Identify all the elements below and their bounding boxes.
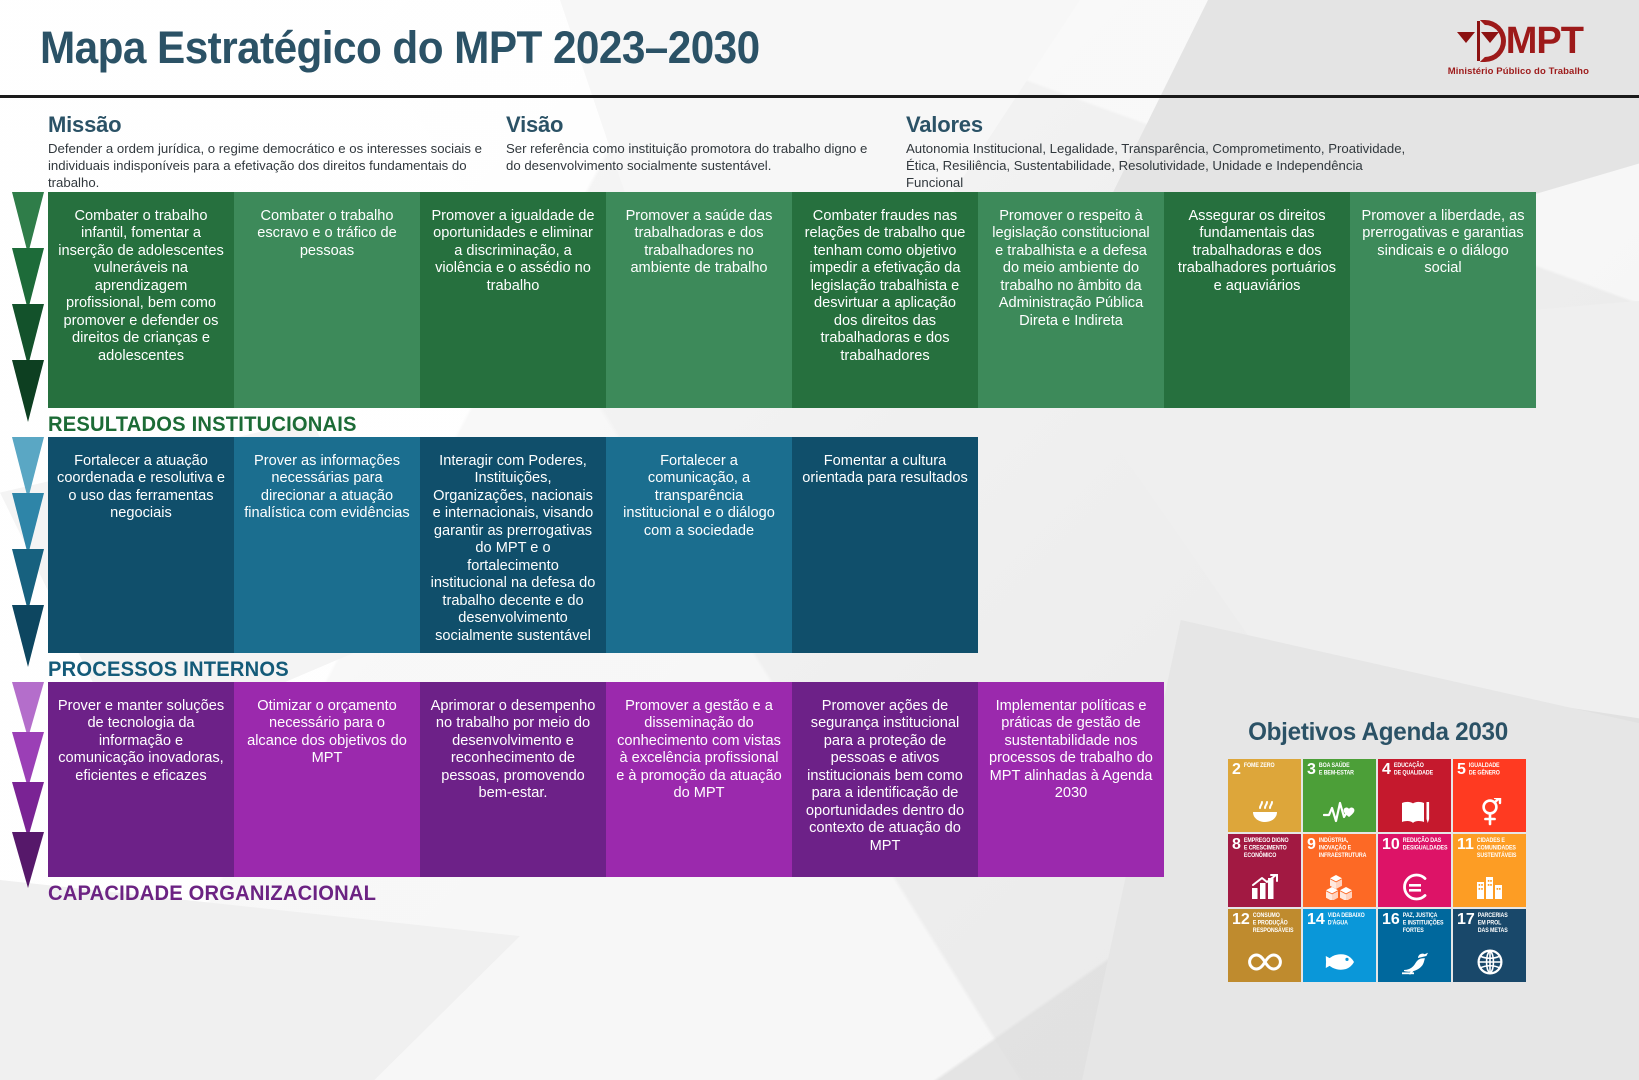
objective-card[interactable]: Aprimorar o desempenho no trabalho por m…	[420, 682, 606, 877]
sdg-goal-number: 9	[1307, 838, 1316, 853]
sdg-goal-head: 14VIDA DEBAIXOD'ÁGUA	[1307, 913, 1372, 928]
sdg-goal-label: VIDA DEBAIXOD'ÁGUA	[1328, 913, 1365, 928]
objective-card[interactable]: Fortalecer a atuação coordenada e resolu…	[48, 437, 234, 653]
strategic-map-page: Mapa Estratégico do MPT 2023–2030 MPT Mi…	[0, 0, 1639, 1080]
mission-block: Missão Defender a ordem jurídica, o regi…	[48, 112, 506, 192]
objective-card-text: Otimizar o orçamento necessário para o a…	[247, 698, 407, 767]
mission-text: Defender a ordem jurídica, o regime demo…	[48, 141, 482, 192]
sdg-goal-number: 2	[1232, 763, 1241, 778]
sdg-goal-head: 9INDÚSTRIA,INOVAÇÃO EINFRAESTRUTURA	[1307, 838, 1372, 856]
objective-card-text: Fomentar a cultura orientada para result…	[802, 453, 968, 487]
sdg-goal-label: IGUALDADEDE GÊNERO	[1469, 763, 1500, 778]
sdg-goal-tile-16[interactable]: 16PAZ, JUSTIÇAE INSTITUIÇÕESFORTES	[1378, 909, 1451, 982]
sdg-goal-tile-17[interactable]: 17PARCERIASEM PROLDAS METAS	[1453, 909, 1526, 982]
equal-circle-icon	[1378, 870, 1451, 904]
page-header: Mapa Estratégico do MPT 2023–2030 MPT Mi…	[0, 0, 1639, 98]
objective-row: Combater o trabalho infantil, fomentar a…	[48, 192, 1639, 408]
objective-card[interactable]: Promover a liberdade, as prerrogativas e…	[1350, 192, 1536, 408]
objective-row: Fortalecer a atuação coordenada e resolu…	[48, 437, 1639, 653]
mpt-logo-text: MPT	[1506, 22, 1583, 60]
sdg-goal-number: 11	[1457, 838, 1474, 853]
objective-card[interactable]: Combater fraudes nas relações de trabalh…	[792, 192, 978, 408]
sdg-panel: Objetivos Agenda 2030 2FOME ZERO3BOA SAÚ…	[1228, 718, 1528, 982]
sdg-goal-number: 14	[1307, 913, 1325, 928]
objective-card[interactable]: Assegurar os direitos fundamentais das t…	[1164, 192, 1350, 408]
sdg-goal-tile-5[interactable]: 5IGUALDADEDE GÊNERO	[1453, 759, 1526, 832]
sdg-goal-head: 4EDUCAÇÃODE QUALIDADE	[1382, 763, 1447, 778]
sdg-goal-number: 4	[1382, 763, 1391, 778]
objective-card[interactable]: Promover a igualdade de oportunidades e …	[420, 192, 606, 408]
sdg-goal-head: 17PARCERIASEM PROLDAS METAS	[1457, 913, 1522, 931]
vision-block: Visão Ser referência como instituição pr…	[506, 112, 906, 192]
objective-card[interactable]: Promover ações de segurança instituciona…	[792, 682, 978, 877]
objective-card-text: Promover o respeito à legislação constit…	[992, 208, 1149, 329]
sdg-goal-label: FOME ZERO	[1244, 763, 1275, 770]
vision-heading: Visão	[506, 112, 882, 138]
chevron-segment	[12, 782, 44, 838]
sdg-goal-label: PARCERIASEM PROLDAS METAS	[1478, 913, 1508, 935]
values-heading: Valores	[906, 112, 1422, 138]
objective-card-text: Implementar políticas e práticas de gest…	[989, 698, 1153, 802]
objective-card[interactable]: Implementar políticas e práticas de gest…	[978, 682, 1164, 877]
sdg-goal-tile-8[interactable]: 8EMPREGO DIGNOE CRESCIMENTOECONÔMICO	[1228, 834, 1301, 907]
chevron-segment	[12, 832, 44, 888]
sdg-goal-label: BOA SAÚDEE BEM-ESTAR	[1319, 763, 1354, 778]
chevron-segment	[12, 360, 44, 422]
page-title: Mapa Estratégico do MPT 2023–2030	[40, 22, 760, 74]
sdg-goal-label: EDUCAÇÃODE QUALIDADE	[1394, 763, 1433, 778]
sdg-goal-number: 10	[1382, 838, 1400, 853]
objective-card-text: Assegurar os direitos fundamentais das t…	[1178, 208, 1336, 294]
sdg-goal-label: INDÚSTRIA,INOVAÇÃO EINFRAESTRUTURA	[1319, 838, 1366, 860]
gender-icon	[1453, 795, 1526, 829]
objective-card[interactable]: Combater o trabalho infantil, fomentar a…	[48, 192, 234, 408]
objective-card[interactable]: Prover e manter soluções de tecnologia d…	[48, 682, 234, 877]
objective-card-text: Prover e manter soluções de tecnologia d…	[58, 698, 224, 784]
mpt-emblem-icon	[1454, 19, 1506, 63]
chevron-arrow-green	[12, 192, 44, 416]
bowl-icon	[1228, 795, 1301, 829]
chevron-segment	[12, 248, 44, 310]
sdg-goal-head: 8EMPREGO DIGNOE CRESCIMENTOECONÔMICO	[1232, 838, 1297, 856]
mpt-logo-subtitle: Ministério Público do Trabalho	[1448, 66, 1589, 77]
sdg-goal-head: 12CONSUMOE PRODUÇÃORESPONSÁVEIS	[1232, 913, 1297, 931]
partnership-icon	[1453, 945, 1526, 979]
cubes-icon	[1303, 870, 1376, 904]
objective-card-text: Combater o trabalho infantil, fomentar a…	[58, 208, 224, 364]
heartbeat-icon	[1303, 795, 1376, 829]
sdg-goal-head: 16PAZ, JUSTIÇAE INSTITUIÇÕESFORTES	[1382, 913, 1447, 931]
sdg-goal-number: 12	[1232, 913, 1250, 928]
sdg-goal-tile-11[interactable]: 11CIDADES ECOMUNIDADESSUSTENTÁVEIS	[1453, 834, 1526, 907]
sdg-goal-label: EMPREGO DIGNOE CRESCIMENTOECONÔMICO	[1244, 838, 1289, 860]
chevron-segment	[12, 192, 44, 254]
chevron-segment	[12, 304, 44, 366]
chevron-arrow-purple	[12, 682, 44, 882]
sdg-goal-number: 5	[1457, 763, 1466, 778]
objective-card-text: Promover a saúde das trabalhadoras e dos…	[626, 208, 773, 277]
sdg-goal-tile-4[interactable]: 4EDUCAÇÃODE QUALIDADE	[1378, 759, 1451, 832]
sdg-goal-label: CIDADES ECOMUNIDADESSUSTENTÁVEIS	[1477, 838, 1516, 860]
objective-card-text: Promover a liberdade, as prerrogativas e…	[1361, 208, 1524, 277]
perspective-band-blue: Fortalecer a atuação coordenada e resolu…	[0, 437, 1639, 682]
chevron-segment	[12, 437, 44, 499]
dove-icon	[1378, 945, 1451, 979]
objective-card-text: Combater o trabalho escravo e o tráfico …	[257, 208, 397, 259]
sdg-panel-title: Objetivos Agenda 2030	[1233, 718, 1524, 747]
objective-card[interactable]: Fomentar a cultura orientada para result…	[792, 437, 978, 653]
objective-card-text: Promover a gestão e a disseminação do co…	[616, 698, 782, 802]
sdg-goal-label: PAZ, JUSTIÇAE INSTITUIÇÕESFORTES	[1403, 913, 1444, 935]
sdg-goal-number: 3	[1307, 763, 1316, 778]
sdg-goal-tile-2[interactable]: 2FOME ZERO	[1228, 759, 1301, 832]
mission-vision-values: Missão Defender a ordem jurídica, o regi…	[0, 98, 1639, 192]
perspective-band-green: Combater o trabalho infantil, fomentar a…	[0, 192, 1639, 437]
chevron-segment	[12, 549, 44, 611]
sdg-goal-head: 5IGUALDADEDE GÊNERO	[1457, 763, 1522, 778]
sdg-goal-head: 3BOA SAÚDEE BEM-ESTAR	[1307, 763, 1372, 778]
sdg-goal-number: 8	[1232, 838, 1241, 853]
perspective-label-green: RESULTADOS INSTITUCIONAIS	[48, 408, 1575, 437]
vision-text: Ser referência como instituição promotor…	[506, 141, 882, 175]
objective-card-text: Aprimorar o desempenho no trabalho por m…	[431, 698, 596, 802]
objective-card-text: Combater fraudes nas relações de trabalh…	[805, 208, 966, 364]
sdg-goal-number: 16	[1382, 913, 1400, 928]
chevron-segment	[12, 682, 44, 738]
objective-card[interactable]: Otimizar o orçamento necessário para o a…	[234, 682, 420, 877]
sdg-goal-tile-10[interactable]: 10REDUÇÃO DASDESIGUALDADES	[1378, 834, 1451, 907]
objective-card-text: Promover ações de segurança instituciona…	[806, 698, 964, 854]
infinity-icon	[1228, 945, 1301, 979]
sdg-goal-tile-14[interactable]: 14VIDA DEBAIXOD'ÁGUA	[1303, 909, 1376, 982]
objective-card[interactable]: Promover o respeito à legislação constit…	[978, 192, 1164, 408]
objective-card[interactable]: Promover a gestão e a disseminação do co…	[606, 682, 792, 877]
sdg-goal-tile-3[interactable]: 3BOA SAÚDEE BEM-ESTAR	[1303, 759, 1376, 832]
objective-card[interactable]: Fortalecer a comunicação, a transparênci…	[606, 437, 792, 653]
sdg-grid: 2FOME ZERO3BOA SAÚDEE BEM-ESTAR4EDUCAÇÃO…	[1228, 759, 1528, 982]
mpt-logo: MPT Ministério Público do Trabalho	[1448, 19, 1589, 77]
sdg-goal-label: CONSUMOE PRODUÇÃORESPONSÁVEIS	[1253, 913, 1294, 935]
sdg-goal-tile-9[interactable]: 9INDÚSTRIA,INOVAÇÃO EINFRAESTRUTURA	[1303, 834, 1376, 907]
book-icon	[1378, 795, 1451, 829]
objective-card[interactable]: Prover as informações necessárias para d…	[234, 437, 420, 653]
chevron-segment	[12, 605, 44, 667]
sdg-goal-tile-12[interactable]: 12CONSUMOE PRODUÇÃORESPONSÁVEIS	[1228, 909, 1301, 982]
values-text: Autonomia Institucional, Legalidade, Tra…	[906, 141, 1422, 192]
objective-card-text: Promover a igualdade de oportunidades e …	[431, 208, 594, 294]
objective-card[interactable]: Promover a saúde das trabalhadoras e dos…	[606, 192, 792, 408]
objective-card-text: Fortalecer a comunicação, a transparênci…	[623, 453, 775, 539]
sdg-goal-label: REDUÇÃO DASDESIGUALDADES	[1403, 838, 1448, 853]
sdg-goal-head: 2FOME ZERO	[1232, 763, 1297, 778]
objective-card-text: Interagir com Poderes, Instituições, Org…	[431, 453, 596, 644]
objective-card-text: Fortalecer a atuação coordenada e resolu…	[57, 453, 225, 522]
chevron-segment	[12, 732, 44, 788]
chevron-segment	[12, 493, 44, 555]
sdg-goal-head: 10REDUÇÃO DASDESIGUALDADES	[1382, 838, 1447, 853]
objective-card[interactable]: Combater o trabalho escravo e o tráfico …	[234, 192, 420, 408]
city-icon	[1453, 870, 1526, 904]
chevron-arrow-blue	[12, 437, 44, 661]
sdg-goal-number: 17	[1457, 913, 1475, 928]
objective-card[interactable]: Interagir com Poderes, Instituições, Org…	[420, 437, 606, 653]
values-block: Valores Autonomia Institucional, Legalid…	[906, 112, 1446, 192]
perspective-label-blue: PROCESSOS INTERNOS	[48, 653, 1575, 682]
growth-icon	[1228, 870, 1301, 904]
sdg-goal-head: 11CIDADES ECOMUNIDADESSUSTENTÁVEIS	[1457, 838, 1522, 856]
mission-heading: Missão	[48, 112, 482, 138]
fish-icon	[1303, 945, 1376, 979]
objective-card-text: Prover as informações necessárias para d…	[244, 453, 409, 522]
